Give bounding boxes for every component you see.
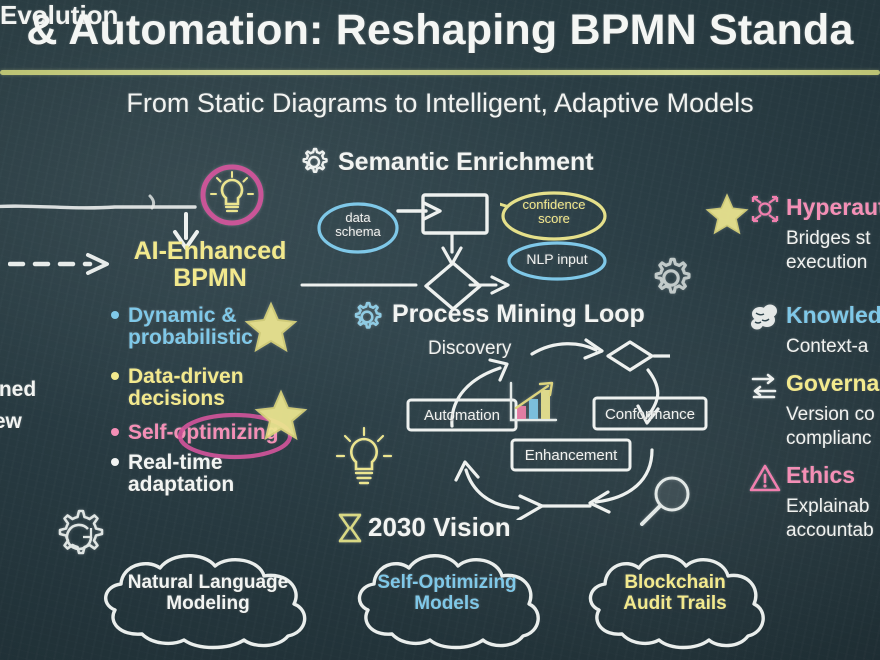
bullet-line2: probabilistic	[128, 327, 253, 349]
bullet-line1: Dynamic &	[128, 305, 253, 327]
cloud-2-line2: Models	[344, 593, 550, 614]
content-layer: & Automation: Reshaping BPMN Standa From…	[0, 0, 880, 660]
right-item-sub2-ethics: accountab	[786, 520, 874, 541]
gear-icon	[648, 255, 694, 301]
page-subtitle: From Static Diagrams to Intelligent, Ada…	[0, 88, 880, 119]
ai-enhanced-bpmn-heading: AI-Enhanced BPMN	[115, 238, 305, 291]
cloud-1-line2: Modeling	[88, 593, 328, 614]
cloud-3-line2: Audit Trails	[576, 593, 774, 614]
star-icon	[253, 388, 309, 442]
cloud-2-line1: Self-Optimizing	[344, 572, 550, 593]
cloud-text-1: Natural Language Modeling	[88, 572, 328, 615]
confidence-line1: confidence	[500, 198, 608, 212]
right-item-title-governance: Governa	[786, 370, 879, 397]
bullet-dot	[111, 458, 119, 466]
confidence-score-label: confidence score	[500, 198, 608, 227]
star-icon	[243, 300, 299, 354]
task-node	[420, 192, 490, 236]
process-step-discovery: Discovery	[428, 338, 511, 360]
data-schema-label: data schema	[316, 211, 400, 240]
data-schema-line1: data	[316, 211, 400, 225]
cloud-3-line1: Blockchain	[576, 572, 774, 593]
hourglass-icon	[336, 512, 364, 544]
bullet-data-driven-decisions: Data-driven decisions	[128, 366, 244, 410]
lightbulb-icon	[334, 425, 394, 491]
cloud-1-line1: Natural Language	[88, 572, 328, 593]
cloud-text-2: Self-Optimizing Models	[344, 572, 550, 615]
bullet-dynamic-probabilistic: Dynamic & probabilistic	[128, 305, 253, 349]
gear-icon	[298, 146, 330, 178]
right-item-title-ethics: Ethics	[786, 462, 855, 489]
gear-icon	[350, 300, 384, 334]
confidence-line2: score	[500, 212, 608, 226]
process-step-conformance: Conformance	[592, 396, 708, 432]
lightbulb-icon	[196, 160, 268, 230]
clipped-text-view: iew	[0, 410, 22, 434]
bullet-line1: Data-driven	[128, 366, 244, 388]
right-item-sub2-hyperautomation: execution	[786, 252, 867, 273]
right-item-sub2-governance: complianc	[786, 428, 872, 449]
arrow-icon	[300, 272, 512, 298]
governance-icon	[748, 370, 780, 402]
process-mining-heading: Process Mining Loop	[392, 300, 645, 329]
ai-heading-line2: BPMN	[115, 265, 305, 292]
right-item-title-hyperautomation: Hyperauto	[786, 194, 880, 221]
semantic-enrichment-heading: Semantic Enrichment	[338, 148, 594, 177]
bullet-line2: decisions	[128, 388, 244, 410]
cloud-text-3: Blockchain Audit Trails	[576, 572, 774, 615]
vision-heading: 2030 Vision	[368, 512, 511, 543]
title-underline	[0, 70, 880, 75]
right-item-sub1-governance: Version co	[786, 404, 875, 425]
process-step-automation: Automation	[406, 398, 518, 432]
process-step-enhancement: Enhancement	[510, 438, 632, 472]
data-schema-line2: schema	[316, 225, 400, 239]
bullet-dot	[111, 311, 119, 319]
right-item-title-knowledge: Knowled	[786, 302, 880, 329]
magnifier-icon	[636, 472, 698, 534]
right-item-sub1-hyperautomation: Bridges st	[786, 228, 870, 249]
knowledge-graph-icon	[748, 302, 782, 334]
ethics-warning-icon	[748, 462, 782, 494]
bullet-dot	[111, 372, 119, 380]
bullet-dot	[111, 428, 119, 436]
dashed-arrow-icon	[8, 248, 120, 278]
star-icon	[704, 192, 750, 236]
right-item-sub1-ethics: Explainab	[786, 496, 869, 517]
hyperautomation-icon	[750, 194, 780, 224]
bullet-line2: adaptation	[128, 474, 234, 496]
ai-heading-line1: AI-Enhanced	[115, 238, 305, 265]
right-item-sub1-knowledge: Context-a	[786, 336, 868, 357]
bar-chart-growth-icon	[504, 378, 562, 430]
nlp-input-label: NLP input	[506, 252, 608, 267]
page-title: & Automation: Reshaping BPMN Standa	[0, 6, 880, 55]
clipped-text-designed: gned	[0, 378, 36, 402]
